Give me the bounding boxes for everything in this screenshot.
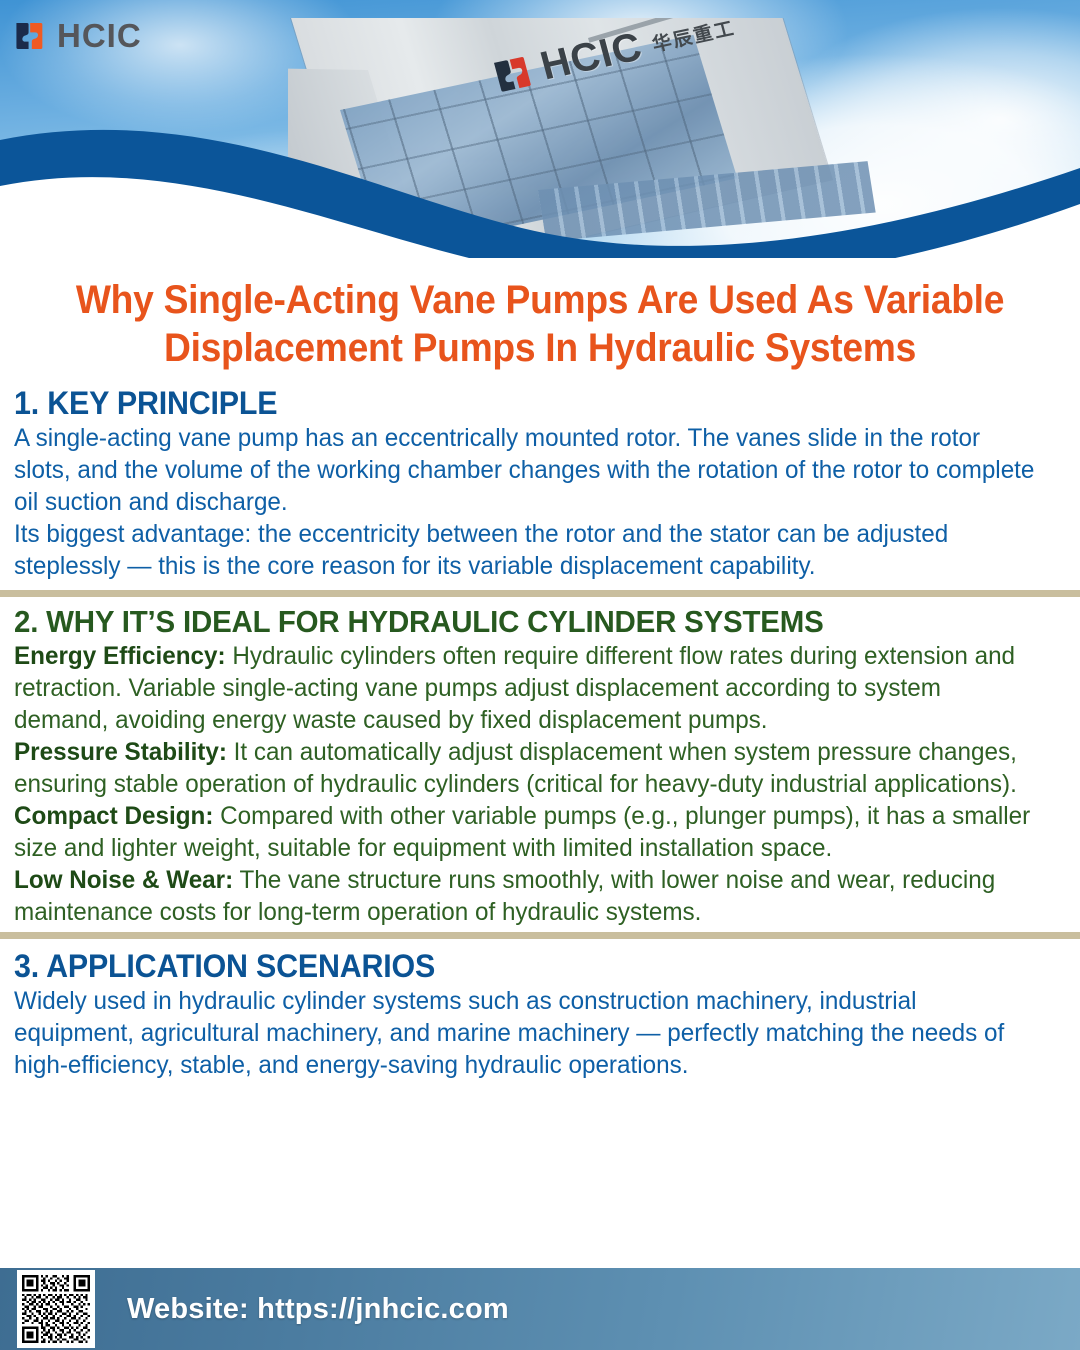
- hero-banner: HCIC 华辰重工 HCIC: [0, 0, 1080, 258]
- qr-code-icon: [22, 1275, 90, 1343]
- benefit-label-compact-design: Compact Design:: [14, 802, 213, 830]
- logo-wordmark: HCIC: [57, 17, 142, 55]
- section-2-heading: 2. WHY IT’S IDEAL FOR HYDRAULIC CYLINDER…: [14, 603, 1013, 640]
- benefit-label-energy-efficiency: Energy Efficiency:: [14, 642, 226, 670]
- section-application-scenarios: 3. APPLICATION SCENARIOS Widely used in …: [0, 939, 1080, 1087]
- blue-wave-divider: [0, 112, 1080, 258]
- section-why-ideal: 2. WHY IT’S IDEAL FOR HYDRAULIC CYLINDER…: [0, 597, 1080, 932]
- page-title: Why Single-Acting Vane Pumps Are Used As…: [38, 276, 1042, 372]
- section-1-paragraph-2: Its biggest advantage: the eccentricity …: [14, 518, 1034, 582]
- divider-1: [0, 590, 1080, 597]
- website-label[interactable]: Website: https://jnhcic.com: [127, 1293, 509, 1326]
- benefit-low-noise-wear: Low Noise & Wear: The vane structure run…: [14, 864, 1034, 928]
- section-3-paragraph-1: Widely used in hydraulic cylinder system…: [14, 985, 1034, 1081]
- benefit-label-pressure-stability: Pressure Stability:: [14, 738, 227, 766]
- corner-logo: HCIC: [14, 17, 142, 55]
- divider-2: [0, 932, 1080, 939]
- benefit-compact-design: Compact Design: Compared with other vari…: [14, 800, 1034, 864]
- content-body: 1. KEY PRINCIPLE A single-acting vane pu…: [0, 378, 1080, 1087]
- section-1-paragraph-1: A single-acting vane pump has an eccentr…: [14, 422, 1034, 518]
- building-sign-chinese: 华辰重工: [649, 18, 738, 57]
- hcic-logo-icon: [14, 19, 48, 53]
- qr-code[interactable]: [17, 1270, 95, 1348]
- benefit-pressure-stability: Pressure Stability: It can automatically…: [14, 736, 1034, 800]
- section-3-heading: 3. APPLICATION SCENARIOS: [14, 947, 1013, 985]
- section-key-principle: 1. KEY PRINCIPLE A single-acting vane pu…: [0, 378, 1080, 590]
- section-1-heading: 1. KEY PRINCIPLE: [14, 384, 1013, 422]
- footer-bar: Website: https://jnhcic.com: [0, 1268, 1080, 1350]
- benefit-energy-efficiency: Energy Efficiency: Hydraulic cylinders o…: [14, 640, 1034, 736]
- benefit-label-low-noise-wear: Low Noise & Wear:: [14, 866, 233, 894]
- infographic-page: HCIC 华辰重工 HCIC Why Single-Acting Vane Pu…: [0, 0, 1080, 1350]
